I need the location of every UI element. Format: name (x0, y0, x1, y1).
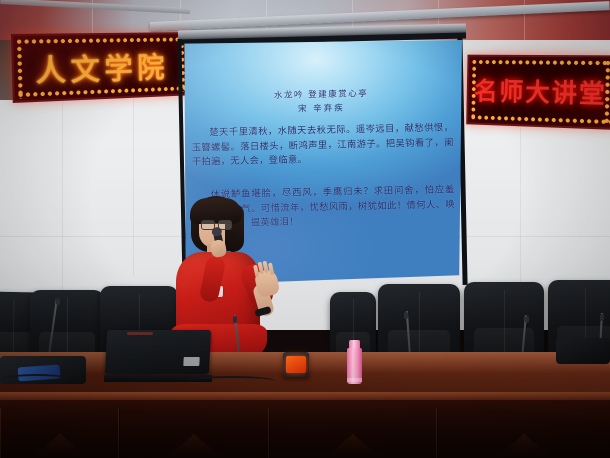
laptop-accent-strip (127, 332, 153, 335)
table-panel-section (0, 408, 120, 458)
cable (2, 374, 72, 386)
table-panel-section (436, 408, 610, 458)
bottle-body (347, 348, 362, 384)
equipment-case-right (556, 338, 610, 364)
lecture-hall-photo: 人文学院 名师大讲堂 水龙吟 登建康赏心亭 宋 辛弃疾 楚天千里清秋，水随天去秋… (0, 0, 610, 458)
led-sign-right-text: 名师大讲堂 (474, 72, 607, 111)
led-sign-left-text: 人文学院 (35, 45, 169, 91)
red-device-face (286, 356, 306, 373)
red-signal-device (283, 352, 309, 377)
led-sign-humanities-college: 人文学院 (11, 32, 190, 103)
slide-stanza-1: 楚天千里清秋，水随天去秋无际。遥岑远目，献愁供恨，玉簪螺髻。落日楼头，断鸿声里，… (191, 121, 454, 170)
table-panel-section (268, 408, 438, 458)
table-panel-section (118, 408, 270, 458)
laptop (100, 330, 212, 382)
cable (186, 376, 276, 386)
pink-water-bottle (347, 340, 362, 384)
laptop-lid (105, 330, 211, 374)
laptop-label (183, 357, 199, 366)
led-sign-master-lecture-hall: 名师大讲堂 (466, 55, 610, 130)
